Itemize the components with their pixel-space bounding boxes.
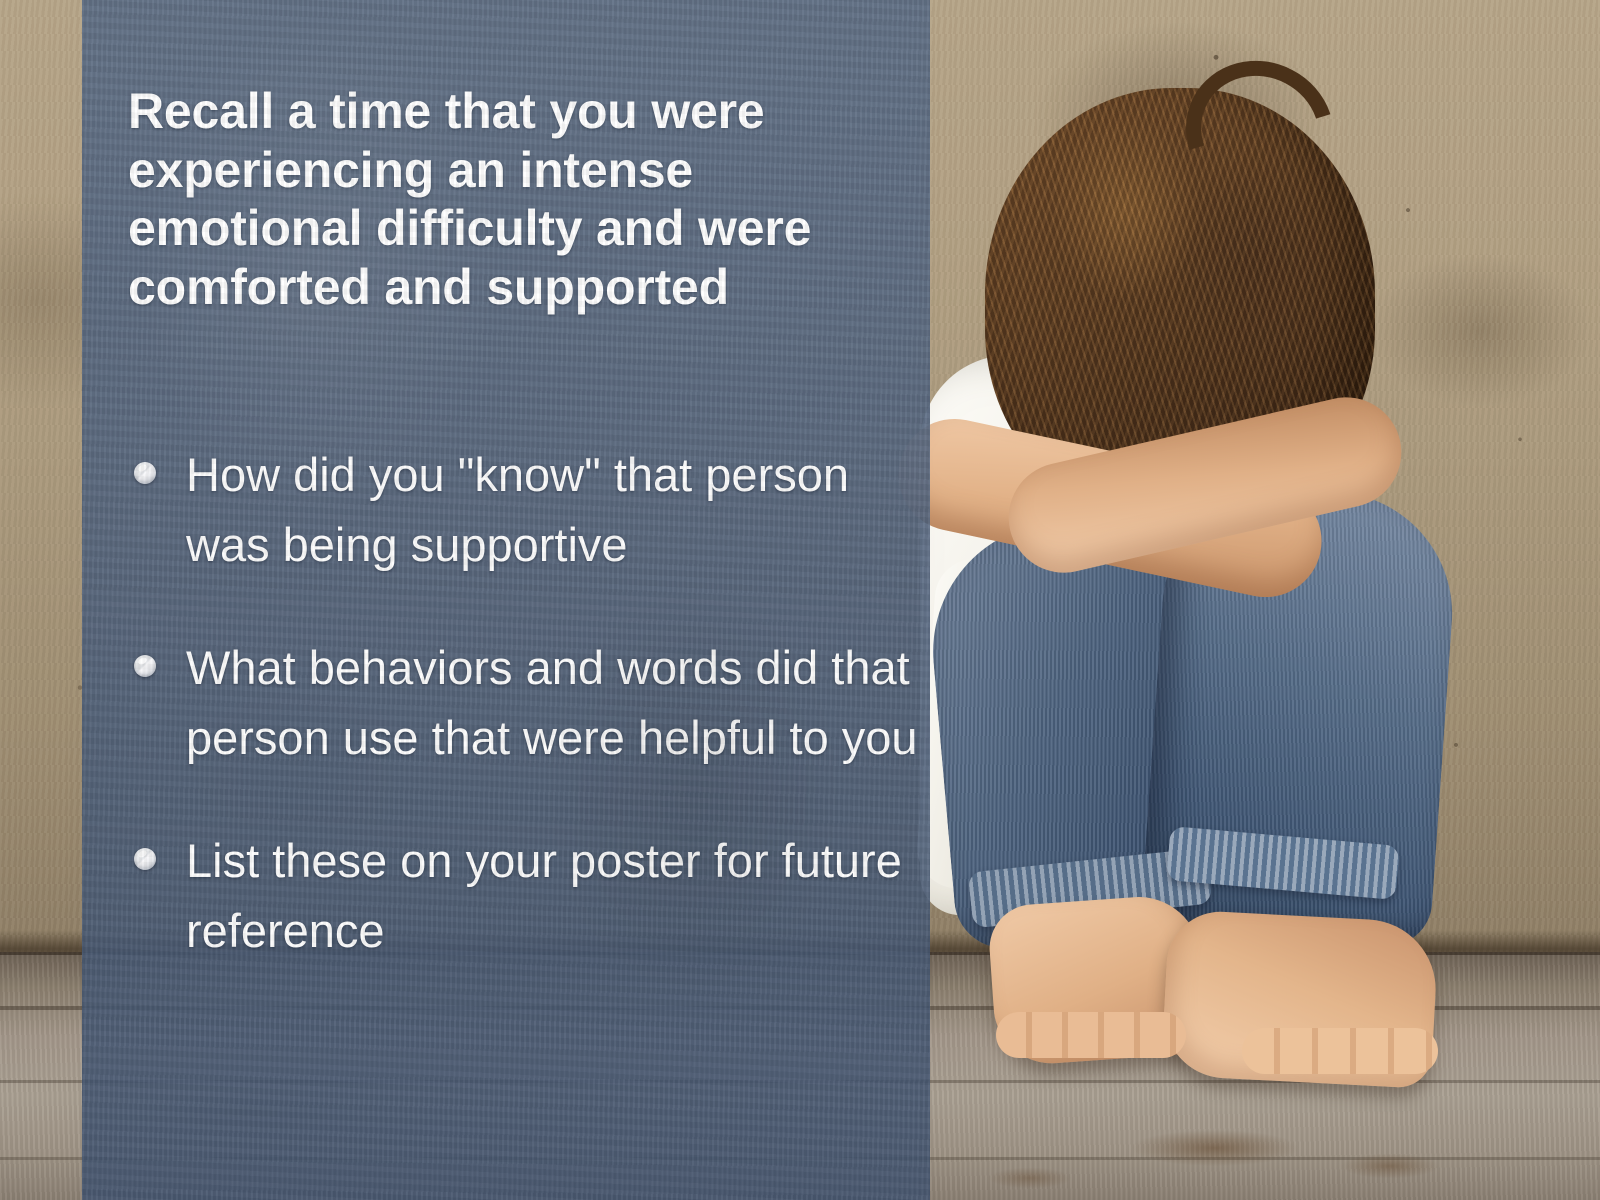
bullet-item-1-label: How did you "know" that person was being… xyxy=(186,448,849,571)
slide-content: Recall a time that you were experiencing… xyxy=(82,0,930,1200)
presentation-slide: Recall a time that you were experiencing… xyxy=(0,0,1600,1200)
child-figure xyxy=(930,0,1600,1200)
pearl-bullet-icon xyxy=(134,655,156,677)
pearl-bullet-icon xyxy=(134,462,156,484)
toes-left xyxy=(996,1012,1186,1058)
bullet-item-1: How did you "know" that person was being… xyxy=(128,440,928,579)
toes-right xyxy=(1242,1028,1438,1074)
slide-headline: Recall a time that you were experiencing… xyxy=(128,82,918,316)
text-overlay-panel: Recall a time that you were experiencing… xyxy=(82,0,930,1200)
bullet-item-3: List these on your poster for future ref… xyxy=(128,826,928,965)
bullet-item-2: What behaviors and words did that person… xyxy=(128,633,928,772)
pearl-bullet-icon xyxy=(134,848,156,870)
bullet-item-2-label: What behaviors and words did that person… xyxy=(186,641,918,764)
bullet-list: How did you "know" that person was being… xyxy=(128,440,928,965)
bullet-item-3-label: List these on your poster for future ref… xyxy=(186,834,902,957)
